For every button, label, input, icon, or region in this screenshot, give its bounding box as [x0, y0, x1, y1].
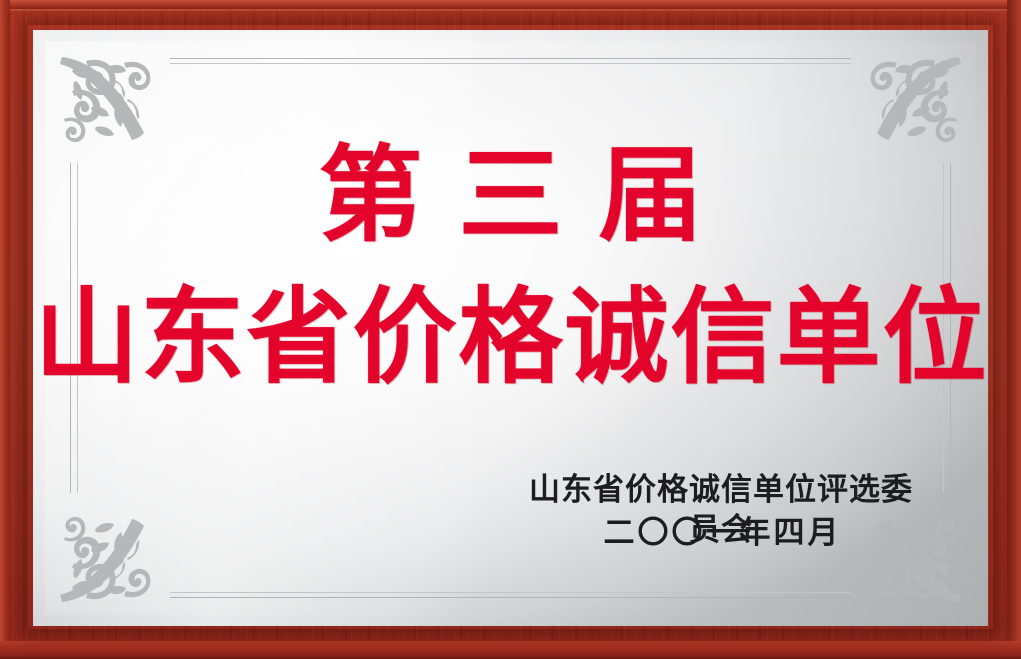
border-rule-left-inner [77, 163, 78, 493]
frame-bevel-top-highlight [0, 9, 1021, 12]
plate-glare [33, 30, 472, 626]
award-plaque: 第三届 山东省价格诚信单位 山东省价格诚信单位评选委员会 二〇〇一年四月 [0, 0, 1021, 659]
frame-bevel-left [0, 0, 10, 659]
border-rule-bottom-outer [170, 597, 851, 598]
border-rule-right-inner [943, 163, 944, 493]
border-rule-top-outer [170, 58, 851, 59]
frame-bevel-bottom-edge [0, 655, 1021, 659]
certificate-plate [33, 30, 988, 626]
plate-vignette [33, 30, 988, 626]
plate-inner-mat [45, 41, 976, 615]
border-rule-top-inner [170, 63, 851, 64]
border-rule-left-outer [70, 163, 71, 493]
frame-bevel-right [1007, 0, 1021, 659]
border-rule-bottom-inner [170, 592, 851, 593]
border-rule-right-outer [950, 163, 951, 493]
frame-bevel-top [0, 0, 1021, 9]
